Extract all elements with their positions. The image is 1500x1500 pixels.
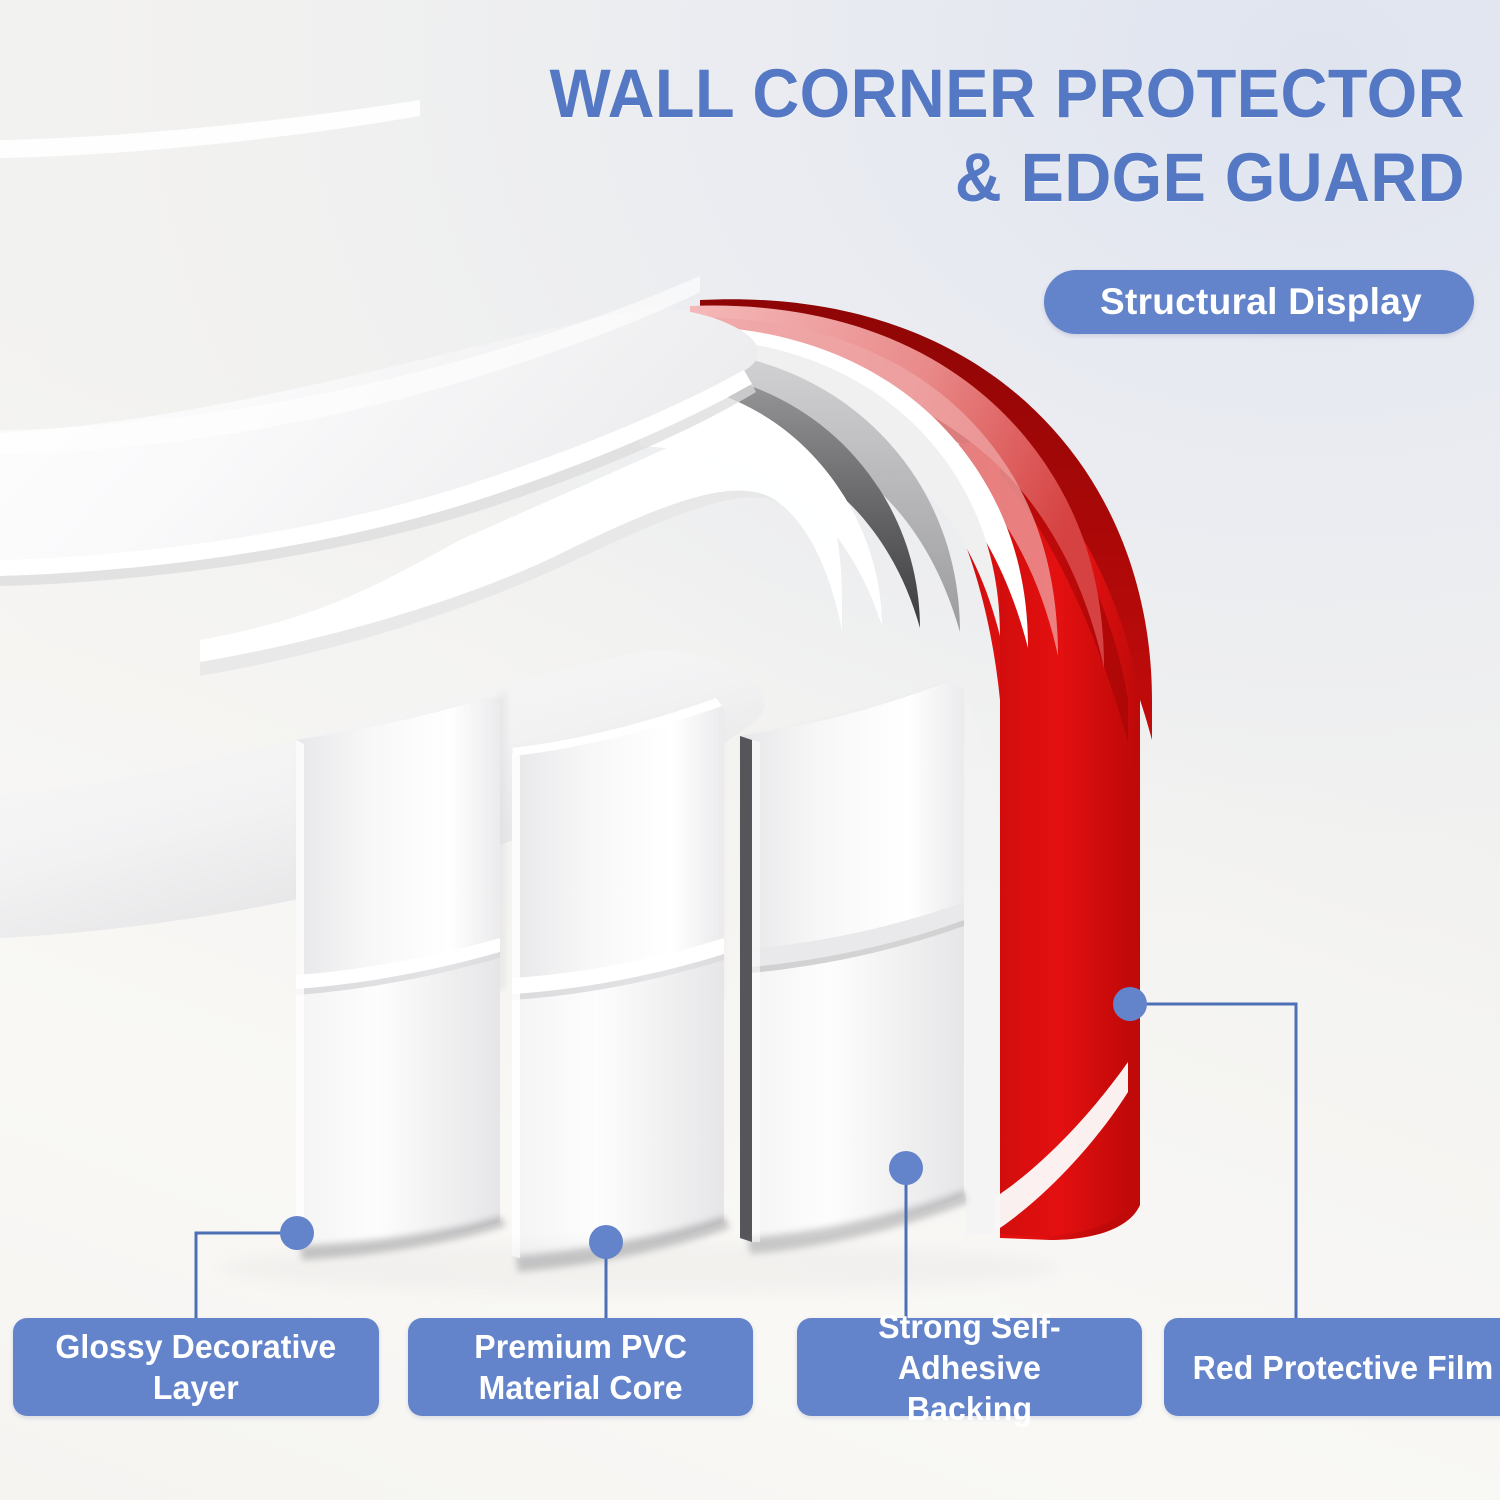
callout-leader-line xyxy=(1130,1004,1296,1318)
callout-leaders xyxy=(0,0,1500,1500)
callout-label-premium-pvc-material-core: Premium PVCMaterial Core xyxy=(408,1318,753,1416)
callout-label-line-2: Layer xyxy=(56,1367,337,1408)
callout-label-line-1: Strong Self-Adhesive xyxy=(812,1306,1127,1388)
callout-dot-premium-pvc-material-core xyxy=(589,1225,623,1259)
callout-label-red-protective-film: Red Protective Film xyxy=(1164,1318,1500,1416)
callout-label-line-1: Red Protective Film xyxy=(1193,1347,1494,1388)
product-infographic: WALL CORNER PROTECTOR & EDGE GUARD Struc… xyxy=(0,0,1500,1500)
callout-dot-strong-self-adhesive-backing xyxy=(889,1151,923,1185)
callout-dot-glossy-decorative-layer xyxy=(280,1216,314,1250)
callout-label-line-2: Material Core xyxy=(474,1367,687,1408)
callout-label-line-1: Premium PVC xyxy=(474,1326,687,1367)
callout-leader-line xyxy=(196,1233,297,1318)
callout-dot-red-protective-film xyxy=(1113,987,1147,1021)
callout-label-line-2: Backing xyxy=(812,1388,1127,1429)
callout-label-strong-self-adhesive-backing: Strong Self-AdhesiveBacking xyxy=(797,1318,1142,1416)
callout-label-line-1: Glossy Decorative xyxy=(56,1326,337,1367)
callout-label-glossy-decorative-layer: Glossy DecorativeLayer xyxy=(13,1318,379,1416)
